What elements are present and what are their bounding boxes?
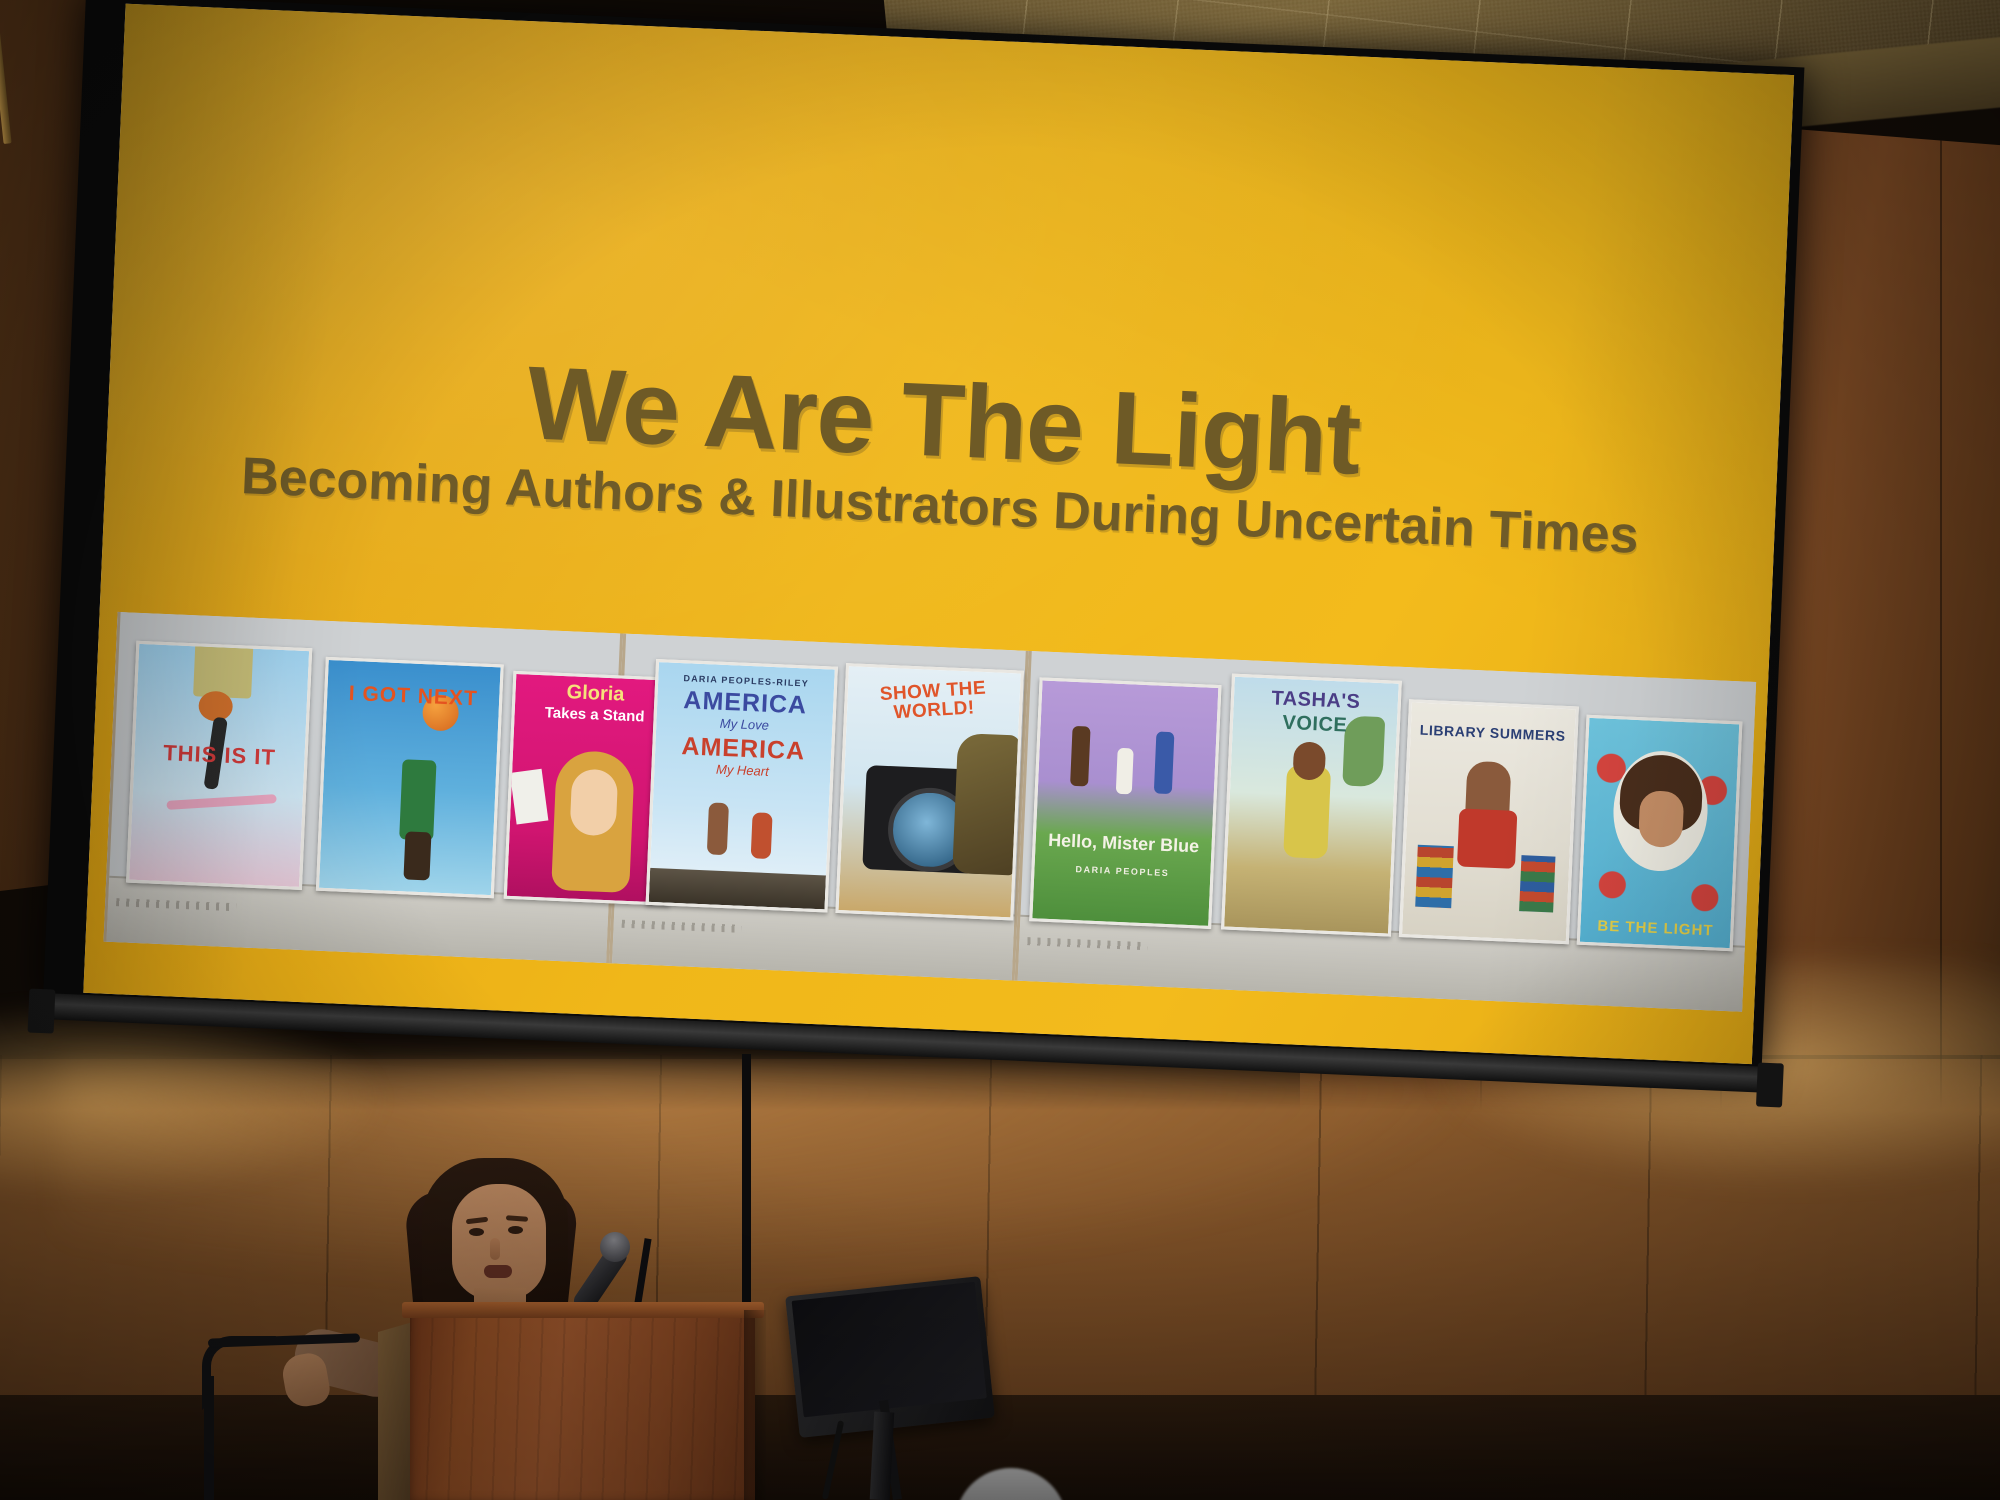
- book-cover: Hello, Mister Blue DARIA PEOPLES: [1029, 677, 1221, 929]
- book-cover: SHOW THE WORLD!: [835, 663, 1024, 920]
- lectern-top-edge: [402, 1302, 764, 1318]
- monitor-display: [792, 1282, 987, 1418]
- auditorium-scene: We Are The Light Becoming Authors & Illu…: [0, 0, 2000, 1500]
- book-cover: BE THE LIGHT: [1577, 715, 1743, 951]
- book-cover: LIBRARY SUMMERS: [1399, 699, 1579, 944]
- projection-screen-assembly: We Are The Light Becoming Authors & Illu…: [40, 0, 1844, 1138]
- book-title: LIBRARY SUMMERS: [1410, 722, 1574, 744]
- stage-railing: [208, 1336, 358, 1500]
- lectern: [410, 1310, 755, 1500]
- railing-post: [204, 1376, 214, 1500]
- eye-right: [508, 1226, 523, 1234]
- lectern-shadow-edge: [744, 1310, 766, 1500]
- book-title: THIS IS IT: [134, 740, 305, 770]
- book-cover: THIS IS IT: [126, 641, 312, 890]
- projection-screen: We Are The Light Becoming Authors & Illu…: [83, 4, 1794, 1064]
- screen-mount-left: [28, 988, 56, 1033]
- book-title: SHOW THE WORLD!: [847, 677, 1021, 726]
- book-title: Gloria: [515, 680, 676, 708]
- nose: [490, 1238, 500, 1260]
- book-title: TASHA'S: [1234, 687, 1399, 715]
- book-shelf-photo: THIS IS IT I GOT NEXT: [104, 612, 1757, 1012]
- wood-grain: [410, 1310, 755, 1500]
- book-cover: DARIA PEOPLES-RILEY AMERICA My Love AMER…: [646, 659, 838, 913]
- book-cover: TASHA'S VOICE: [1221, 674, 1402, 937]
- mouth: [484, 1265, 512, 1278]
- screen-mount-right: [1756, 1062, 1784, 1107]
- book-subtitle: Takes a Stand: [514, 704, 675, 727]
- book-title: I GOT NEXT: [327, 682, 500, 711]
- eye-left: [469, 1228, 484, 1236]
- microphone-pole: [742, 1054, 751, 1324]
- book-cover: I GOT NEXT: [316, 657, 504, 898]
- presentation-slide: We Are The Light Becoming Authors & Illu…: [83, 4, 1794, 1064]
- book-credit: DARIA PEOPLES: [1034, 862, 1210, 880]
- book-title: BE THE LIGHT: [1580, 918, 1731, 940]
- book-subtitle: VOICE: [1233, 711, 1398, 739]
- book-title: Hello, Mister Blue: [1035, 830, 1212, 856]
